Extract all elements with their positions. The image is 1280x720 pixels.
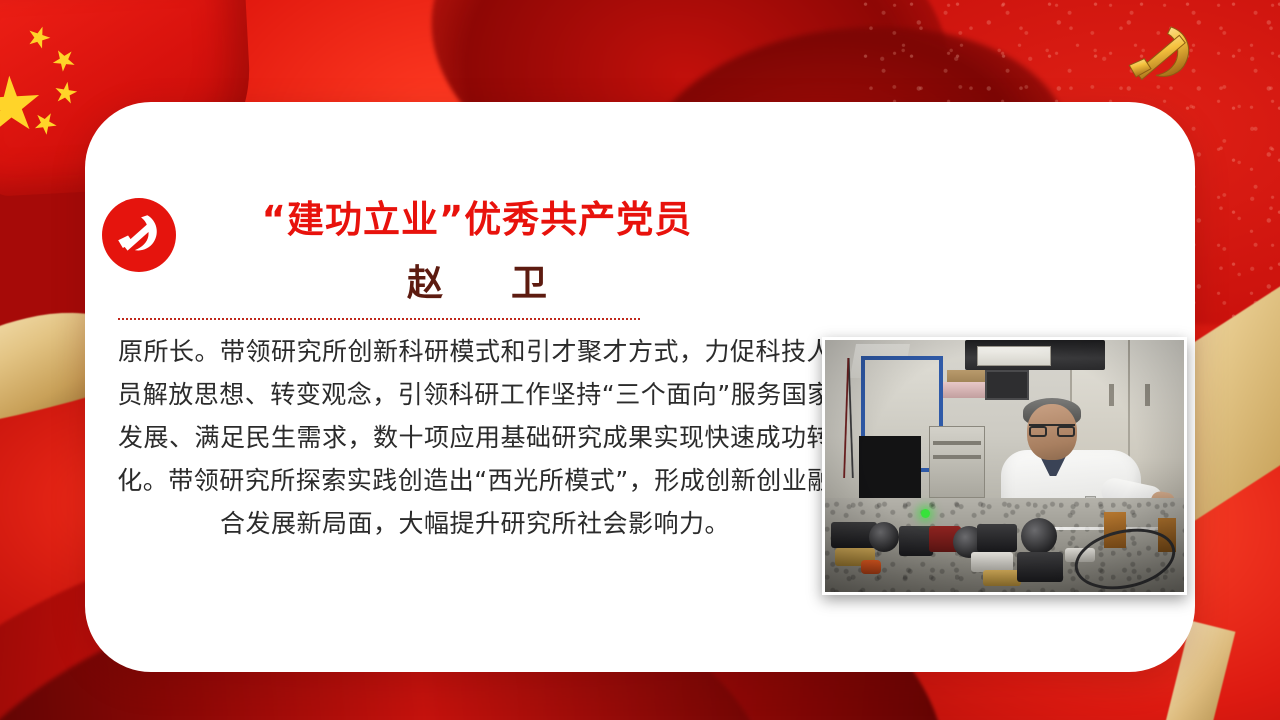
presentation-slide: “建功立业”优秀共产党员 赵 卫 原所长。带领研究所创新科研模式和引才聚才方式，… — [0, 0, 1280, 720]
photo-scene — [825, 340, 1184, 592]
person-photo — [822, 337, 1187, 595]
flag-star-small-icon — [30, 108, 61, 139]
biography-text: 原所长。带领研究所创新科研模式和引才聚才方式，力促科技人员解放思想、转变观念，引… — [115, 330, 835, 545]
hammer-sickle-icon — [102, 198, 176, 272]
title-divider — [118, 318, 640, 320]
hammer-sickle-gold-icon — [1118, 22, 1204, 92]
flag-star-small-icon — [53, 80, 79, 106]
content-card: “建功立业”优秀共产党员 赵 卫 原所长。带领研究所创新科研模式和引才聚才方式，… — [85, 102, 1195, 672]
flag-star-small-icon — [24, 23, 53, 52]
flag-star-small-icon — [48, 44, 80, 76]
page-title: “建功立业”优秀共产党员 — [197, 198, 757, 242]
person-name: 赵 卫 — [197, 254, 757, 306]
